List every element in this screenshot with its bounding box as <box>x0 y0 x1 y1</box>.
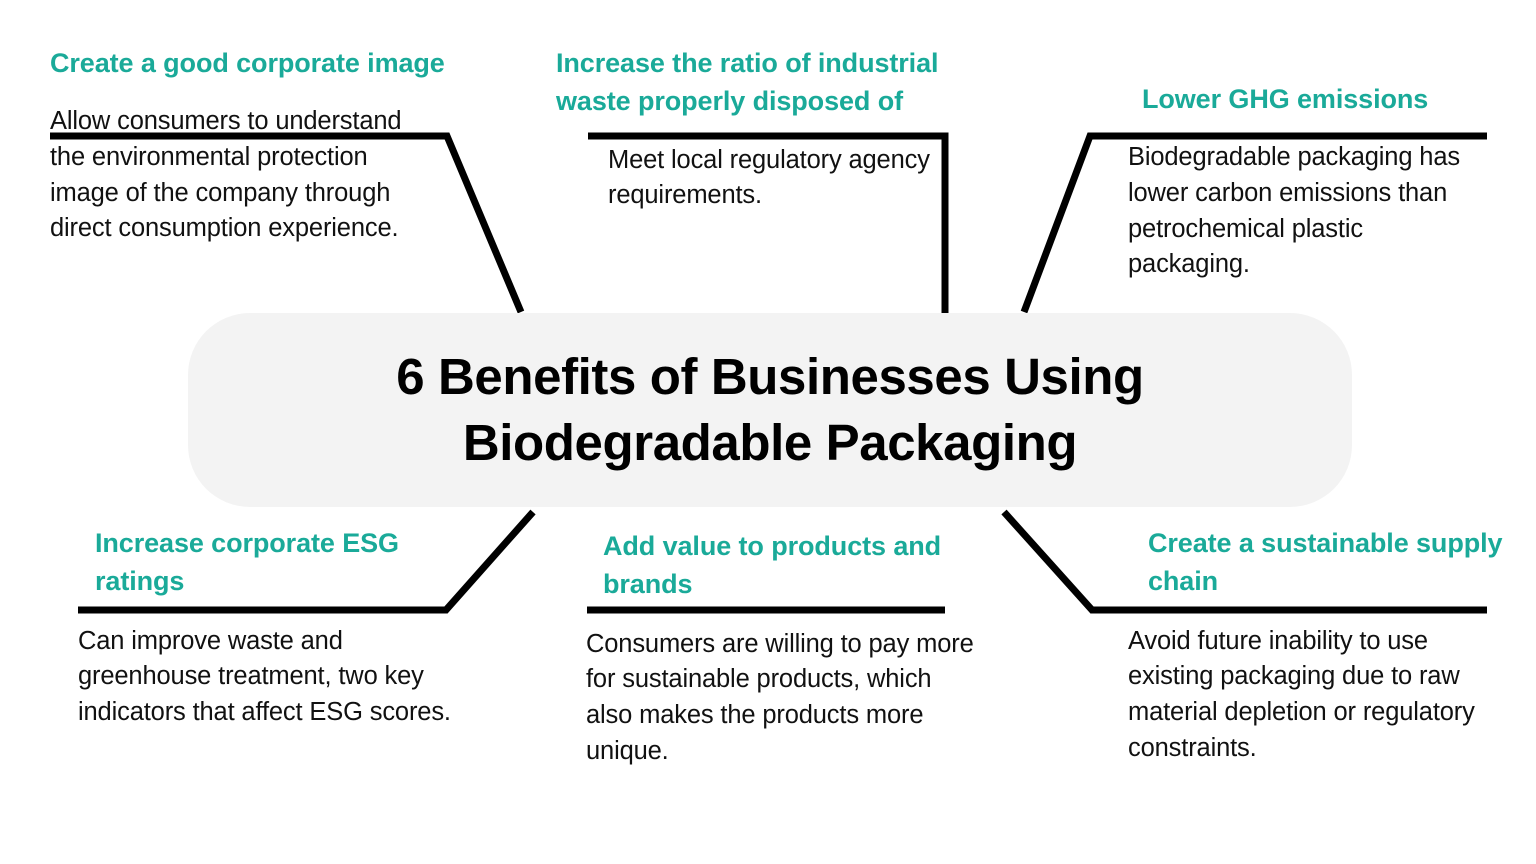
benefit-bottom-middle: Add value to products and brands Consume… <box>603 527 1003 769</box>
infographic-root: 6 Benefits of Businesses Using Biodegrad… <box>0 0 1536 864</box>
benefit-bottom-right: Create a sustainable supply chain Avoid … <box>1148 524 1528 766</box>
benefit-top-right: Lower GHG emissions Biodegradable packag… <box>1090 80 1490 283</box>
benefit-heading: Increase corporate ESG ratings <box>95 524 495 601</box>
benefit-body: Can improve waste and greenhouse treatme… <box>78 624 458 731</box>
benefit-heading: Add value to products and brands <box>603 527 1003 604</box>
benefit-heading: Create a good corporate image <box>50 44 450 82</box>
benefit-body: Allow consumers to understand the enviro… <box>50 104 442 247</box>
benefit-body: Biodegradable packaging has lower carbon… <box>1128 140 1488 283</box>
benefit-top-middle: Increase the ratio of industrial waste p… <box>556 44 976 214</box>
benefit-body: Consumers are willing to pay more for su… <box>586 627 976 770</box>
center-title-card: 6 Benefits of Businesses Using Biodegrad… <box>188 313 1352 507</box>
benefit-heading: Lower GHG emissions <box>1142 80 1490 118</box>
benefit-top-left: Create a good corporate image Allow cons… <box>50 44 450 247</box>
benefit-body: Avoid future inability to use existing p… <box>1128 624 1498 767</box>
benefit-heading: Create a sustainable supply chain <box>1148 524 1528 601</box>
benefit-bottom-left: Increase corporate ESG ratings Can impro… <box>95 524 495 731</box>
benefit-body: Meet local regulatory agency requirement… <box>608 143 948 214</box>
page-title: 6 Benefits of Businesses Using Biodegrad… <box>356 344 1184 477</box>
benefit-heading: Increase the ratio of industrial waste p… <box>556 44 976 121</box>
